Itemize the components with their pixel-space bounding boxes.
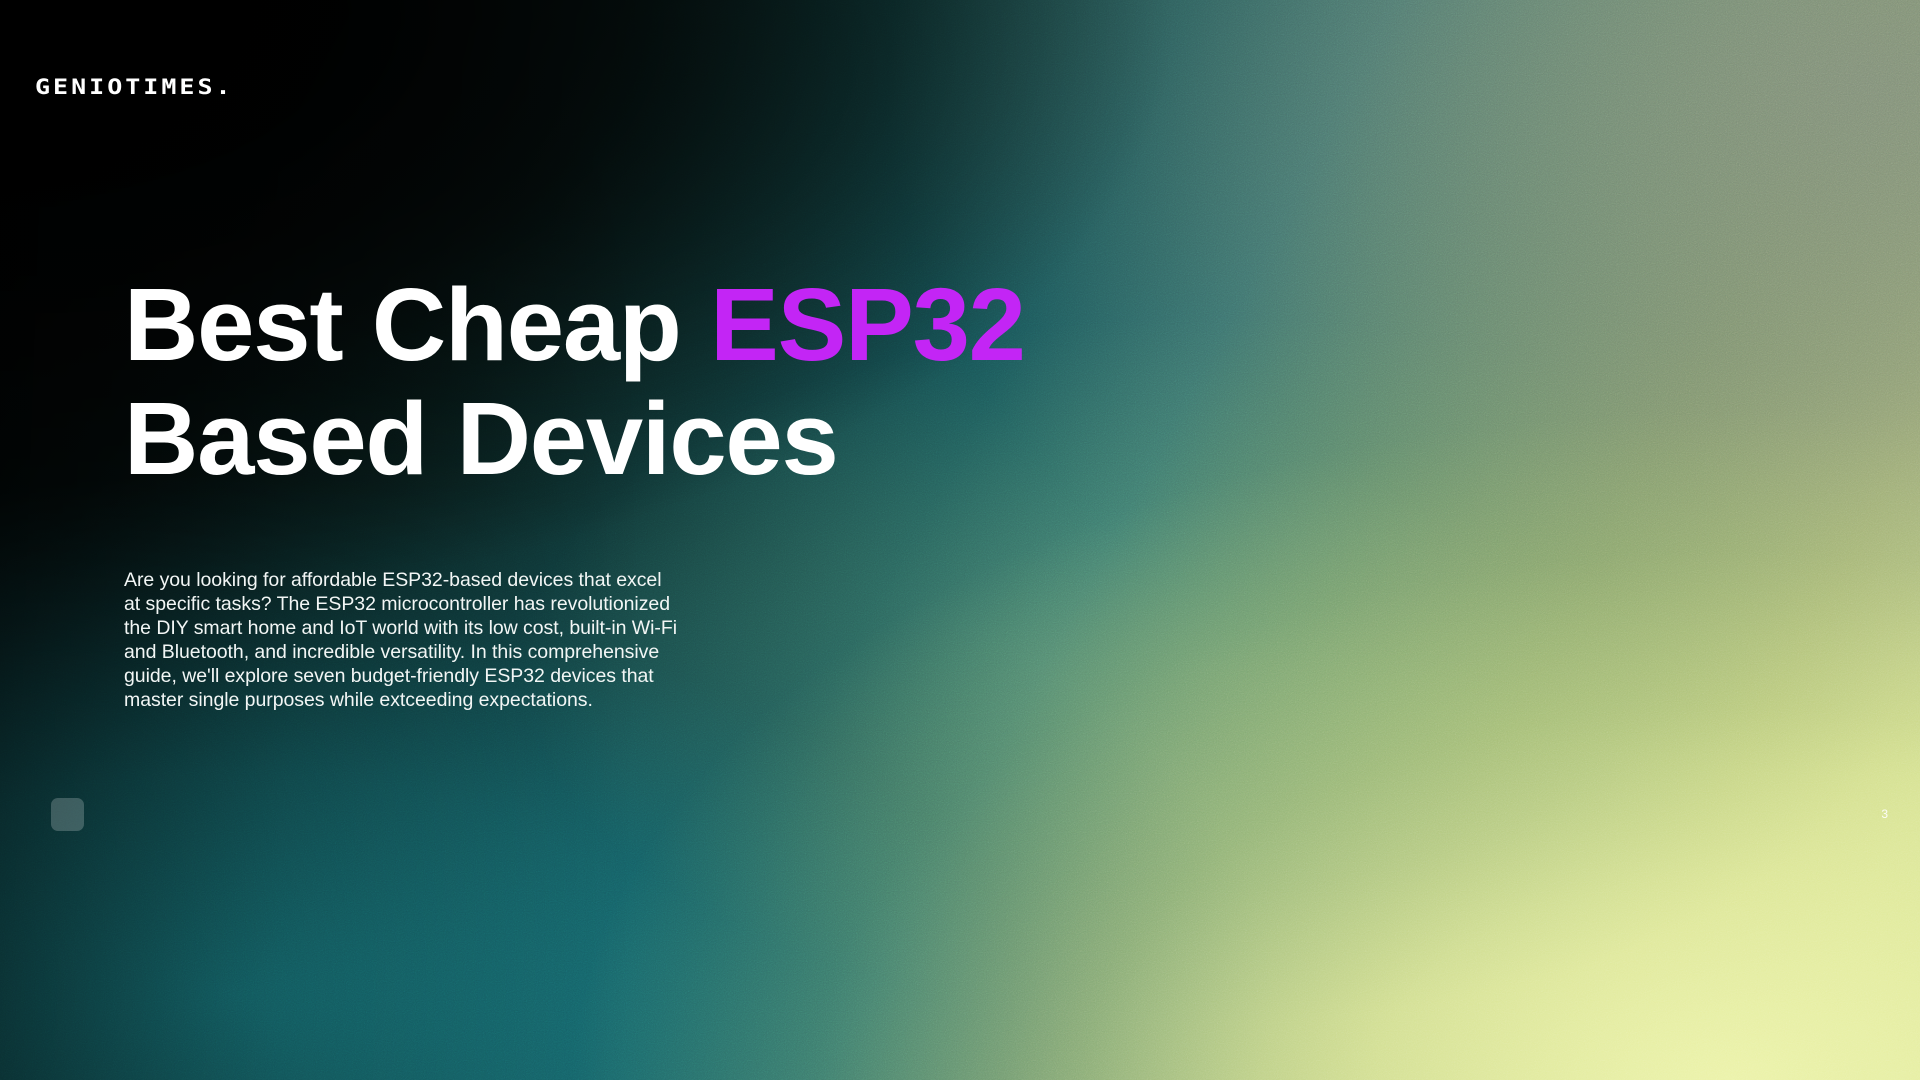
page-number: 3 [1881, 808, 1888, 820]
headline-part-two: Based Devices [124, 381, 838, 496]
corner-square-placeholder[interactable] [51, 798, 84, 831]
headline-part-one: Best Cheap [124, 267, 710, 382]
background-teal-glow [0, 0, 1920, 1080]
background-lime-glow [0, 0, 1920, 1080]
background-grain-texture [0, 0, 1920, 1080]
background-black-glow [0, 0, 1920, 1080]
slide-headline: Best Cheap ESP32 Based Devices [124, 268, 1304, 496]
background-base-gradient [0, 0, 1920, 1080]
presentation-slide: GENIOTIMES. Best Cheap ESP32 Based Devic… [0, 0, 1920, 1080]
background-olive-glow [0, 0, 1920, 1080]
background-vignette [0, 0, 1920, 1080]
brand-logo[interactable]: GENIOTIMES. [35, 76, 234, 98]
background-mid-glow [0, 0, 1920, 1080]
slide-body-paragraph: Are you looking for affordable ESP32-bas… [124, 568, 680, 712]
headline-accent-esp32: ESP32 [710, 267, 1025, 382]
